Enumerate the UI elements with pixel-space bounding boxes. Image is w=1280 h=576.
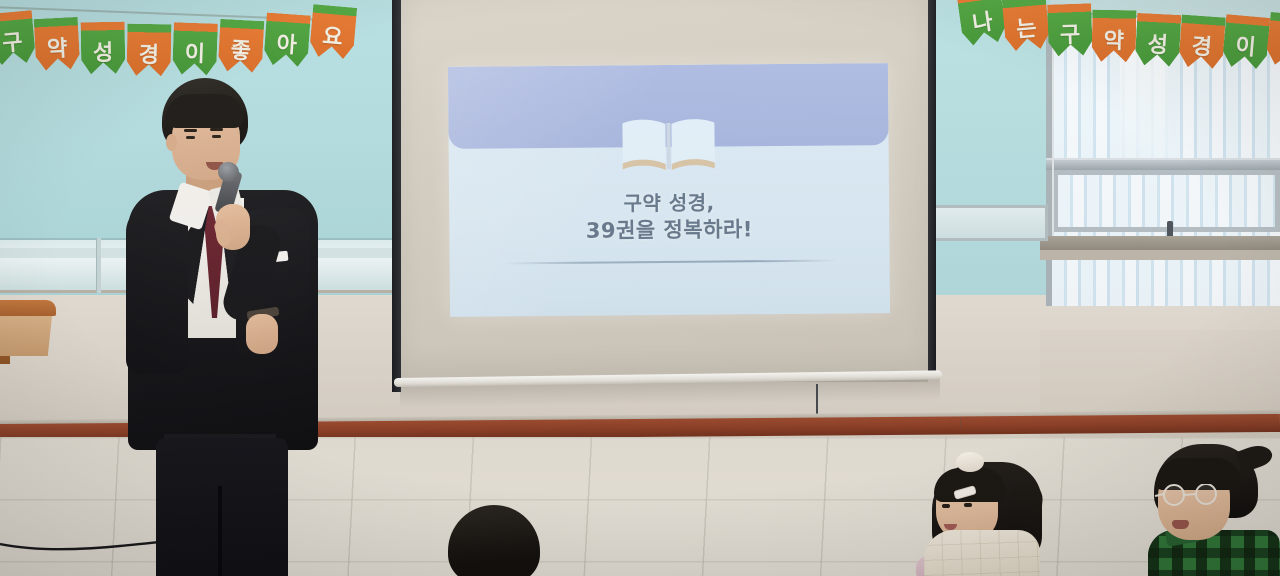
banner-left: 구 약 성 경 이 좋 아 요	[0, 0, 350, 80]
banner-letter: 아	[276, 26, 298, 59]
projected-slide: 구약 성경, 39권을 정복하라!	[448, 63, 890, 317]
banner-flag: 요	[309, 4, 357, 60]
banner-flag: 약	[34, 17, 81, 71]
screen-left-edge	[392, 0, 401, 392]
banner-letter: 이	[184, 36, 205, 69]
banner-letter: 좋	[230, 32, 252, 65]
banner-flag: 성	[81, 22, 126, 75]
banner-flag: 아	[263, 13, 311, 68]
window-sill-lower	[1040, 250, 1280, 260]
slide-title: 구약 성경, 39권을 정복하라!	[449, 188, 889, 246]
banner-flag: 경	[1178, 15, 1226, 70]
hand-lower	[246, 314, 278, 354]
head	[448, 505, 540, 576]
screen-right-edge	[928, 0, 936, 378]
window-mid-rail	[1046, 158, 1280, 170]
child-girl	[910, 452, 1060, 576]
ear	[166, 134, 177, 151]
podium-top	[0, 300, 56, 316]
banner-flag: 이	[172, 22, 218, 76]
banner-letter: 경	[139, 37, 160, 69]
hair-tuft	[1235, 441, 1274, 473]
window-small-right	[930, 205, 1048, 241]
banner-flag: 구	[0, 10, 36, 66]
banner-flag: 약	[1092, 10, 1137, 63]
banner-letter: 약	[1104, 23, 1125, 55]
banner-flag: 나	[957, 0, 1008, 47]
banner-right: 나 는 구 약 성 경 이 좋	[960, 0, 1280, 80]
vest-quilting	[924, 530, 1040, 576]
banner-letter: 는	[1015, 10, 1038, 44]
banner-letter: 요	[321, 18, 344, 52]
slide-title-line1: 구약 성경,	[449, 188, 889, 218]
hair-fringe	[934, 468, 1006, 502]
slide-divider	[502, 260, 836, 264]
arm-left	[126, 204, 188, 374]
hair-fringe	[166, 94, 244, 128]
vertical-blinds	[1058, 175, 1275, 227]
trouser-seam	[218, 486, 222, 576]
banner-letter: 이	[1234, 28, 1257, 62]
slide-title-line2: 39권을 정복하라!	[449, 214, 889, 246]
eye-right	[212, 135, 221, 138]
window-sill	[1040, 236, 1280, 250]
banner-flag: 이	[1222, 14, 1270, 70]
eyebrow-left	[184, 129, 197, 132]
podium-body	[0, 314, 52, 356]
screen-pull-cord[interactable]	[816, 384, 818, 414]
banner-letter: 경	[1191, 28, 1213, 61]
banner-letter: 성	[93, 35, 114, 67]
suit-trousers	[156, 438, 288, 576]
banner-letter: 나	[970, 4, 995, 39]
eye-left	[186, 136, 195, 139]
banner-flag: 경	[127, 24, 172, 77]
banner-letter: 구	[1059, 17, 1080, 50]
banner-letter: 구	[1, 24, 24, 58]
eye-left	[942, 504, 950, 508]
eyebrow-right	[210, 128, 223, 131]
banner-letter: 성	[1147, 26, 1169, 59]
banner-flag: 좋	[218, 19, 265, 73]
banner-letter: 약	[46, 30, 68, 63]
child-boy	[1148, 444, 1280, 576]
mouth	[1172, 520, 1189, 529]
hair-scrunchie	[956, 452, 984, 472]
presenter	[120, 78, 330, 576]
banner-flag: 구	[1047, 3, 1093, 57]
eyeglasses-icon	[1154, 484, 1236, 506]
child-back-of-head	[438, 505, 550, 576]
wall-seam	[960, 418, 961, 428]
banner-flag: 는	[1002, 0, 1050, 52]
eye-right	[964, 503, 972, 507]
window-mullion	[96, 238, 101, 293]
banner-flag: 성	[1135, 13, 1182, 67]
photo-scene: 구약 성경, 39권을 정복하라! 구 약 성 경 이 좋 아 요 나 는 구 …	[0, 0, 1280, 576]
open-book-icon	[618, 117, 719, 176]
